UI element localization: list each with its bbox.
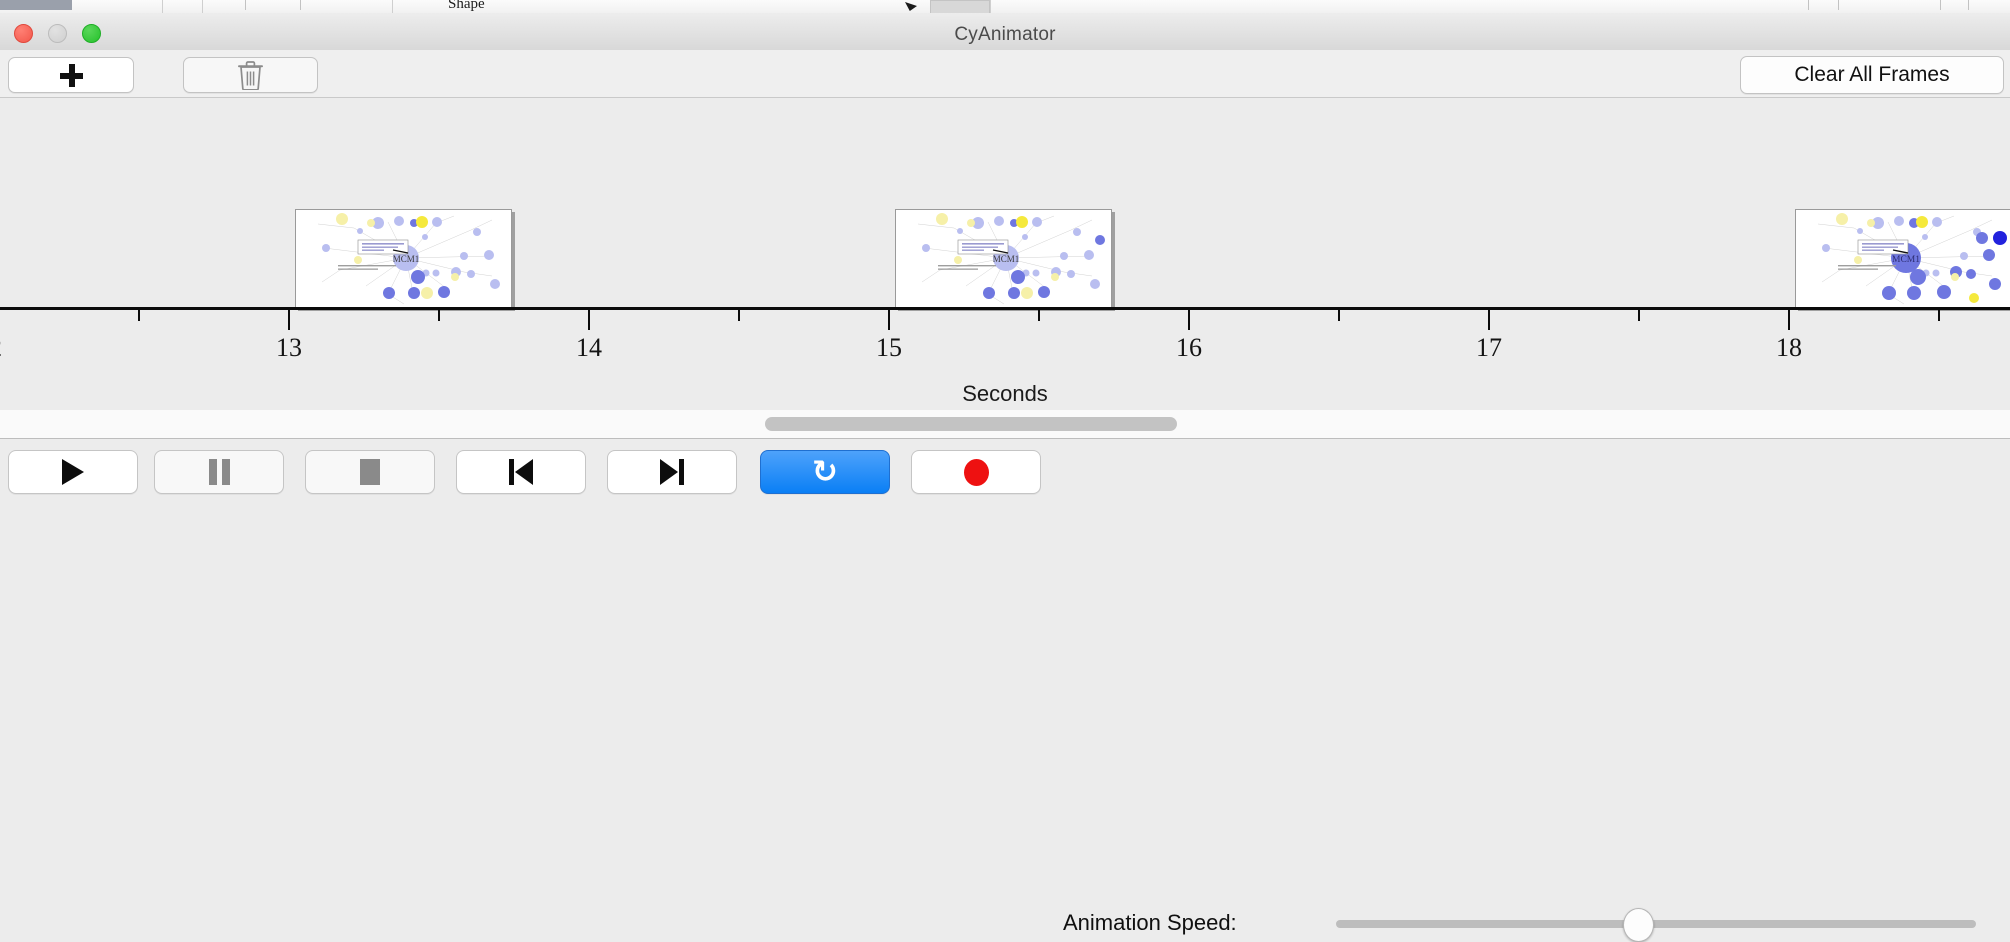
frame-thumbnail[interactable]: MCM1 bbox=[295, 209, 512, 308]
stop-button[interactable] bbox=[305, 450, 435, 494]
loop-icon: ↻ bbox=[812, 457, 838, 488]
bg-seg bbox=[330, 0, 393, 13]
play-icon bbox=[62, 459, 84, 485]
axis-tick-label: 15 bbox=[876, 333, 902, 363]
pause-button[interactable] bbox=[154, 450, 284, 494]
stop-icon bbox=[360, 459, 380, 485]
axis-tick-minor bbox=[438, 310, 440, 321]
bg-seg bbox=[162, 0, 203, 13]
axis-tick-label: 13 bbox=[276, 333, 302, 363]
frame-thumbnail[interactable]: MCM1 bbox=[895, 209, 1112, 308]
bg-tick bbox=[1940, 0, 1941, 10]
bg-window-text: Shape bbox=[448, 0, 485, 13]
timeline-panel[interactable]: MCM1 bbox=[0, 98, 2010, 411]
animation-speed-label: Animation Speed: bbox=[1063, 910, 1237, 936]
network-thumbnail-graphic: MCM1 bbox=[296, 210, 511, 307]
cyanimator-window: Shape CyAnimator Clear All Frames bbox=[0, 0, 2010, 510]
animation-speed-slider[interactable] bbox=[1336, 920, 1976, 928]
delete-frame-button[interactable] bbox=[183, 57, 318, 93]
pause-icon bbox=[207, 459, 231, 485]
network-thumbnail-graphic: MCM1 bbox=[896, 210, 1111, 307]
axis-tick-label: 18 bbox=[1776, 333, 1802, 363]
axis-baseline bbox=[0, 307, 2010, 310]
axis-tick-label: 16 bbox=[1176, 333, 1202, 363]
bg-box bbox=[930, 0, 990, 13]
animation-speed-slider-thumb[interactable] bbox=[1623, 908, 1654, 942]
background-window-strip: Shape bbox=[0, 0, 2010, 13]
axis-tick-minor bbox=[1038, 310, 1040, 321]
svg-text:MCM1: MCM1 bbox=[393, 254, 420, 264]
bg-seg bbox=[988, 0, 991, 13]
bg-tick bbox=[1968, 0, 1969, 10]
skip-back-button[interactable] bbox=[456, 450, 586, 494]
svg-text:MCM1: MCM1 bbox=[993, 254, 1020, 264]
play-button[interactable] bbox=[8, 450, 138, 494]
window-title: CyAnimator bbox=[0, 24, 2010, 46]
record-button[interactable] bbox=[911, 450, 1041, 494]
clear-all-frames-label: Clear All Frames bbox=[1794, 63, 1949, 87]
axis-tick-major bbox=[1488, 310, 1490, 330]
title-bar: CyAnimator bbox=[0, 13, 2010, 51]
axis-tick-minor bbox=[738, 310, 740, 321]
timeline-axis[interactable]: 12 13 14 15 16 17 18 Seconds bbox=[0, 307, 2010, 410]
bg-tick bbox=[1808, 0, 1809, 10]
axis-tick-major bbox=[288, 310, 290, 330]
axis-tick-label: 17 bbox=[1476, 333, 1502, 363]
bg-tick bbox=[245, 0, 246, 10]
frame-thumbnail[interactable]: MCM1 bbox=[1795, 209, 2010, 308]
timeline-scrollbar[interactable] bbox=[0, 410, 2010, 439]
loop-button[interactable]: ↻ bbox=[760, 450, 890, 494]
skip-forward-icon bbox=[659, 459, 685, 485]
background-window-titlebar bbox=[0, 0, 72, 10]
axis-title: Seconds bbox=[0, 381, 2010, 407]
transport-bar: ↻ Animation Speed: bbox=[0, 439, 2010, 510]
axis-tick-minor bbox=[1938, 310, 1940, 321]
clear-all-frames-button[interactable]: Clear All Frames bbox=[1740, 56, 2004, 94]
axis-tick-major bbox=[588, 310, 590, 330]
skip-forward-button[interactable] bbox=[607, 450, 737, 494]
plus-icon bbox=[60, 64, 83, 87]
axis-tick-minor bbox=[1338, 310, 1340, 321]
axis-tick-minor bbox=[138, 310, 140, 321]
bg-seg bbox=[72, 0, 163, 13]
axis-tick-minor bbox=[1638, 310, 1640, 321]
skip-back-icon bbox=[508, 459, 534, 485]
record-icon bbox=[964, 459, 989, 486]
axis-tick-major bbox=[1188, 310, 1190, 330]
axis-tick-label: 12 bbox=[0, 333, 2, 363]
bg-tick bbox=[300, 0, 301, 10]
bg-cursor-arrow bbox=[905, 2, 917, 11]
axis-tick-major bbox=[888, 310, 890, 330]
scrollbar-thumb[interactable] bbox=[765, 417, 1177, 431]
axis-tick-major bbox=[1788, 310, 1790, 330]
toolbar: Clear All Frames bbox=[0, 50, 2010, 98]
network-thumbnail-graphic: MCM1 bbox=[1796, 210, 2010, 307]
bg-tick bbox=[1838, 0, 1839, 10]
add-frame-button[interactable] bbox=[8, 57, 134, 93]
axis-tick-label: 14 bbox=[576, 333, 602, 363]
trash-icon bbox=[238, 61, 263, 90]
svg-text:MCM1: MCM1 bbox=[1892, 255, 1920, 265]
